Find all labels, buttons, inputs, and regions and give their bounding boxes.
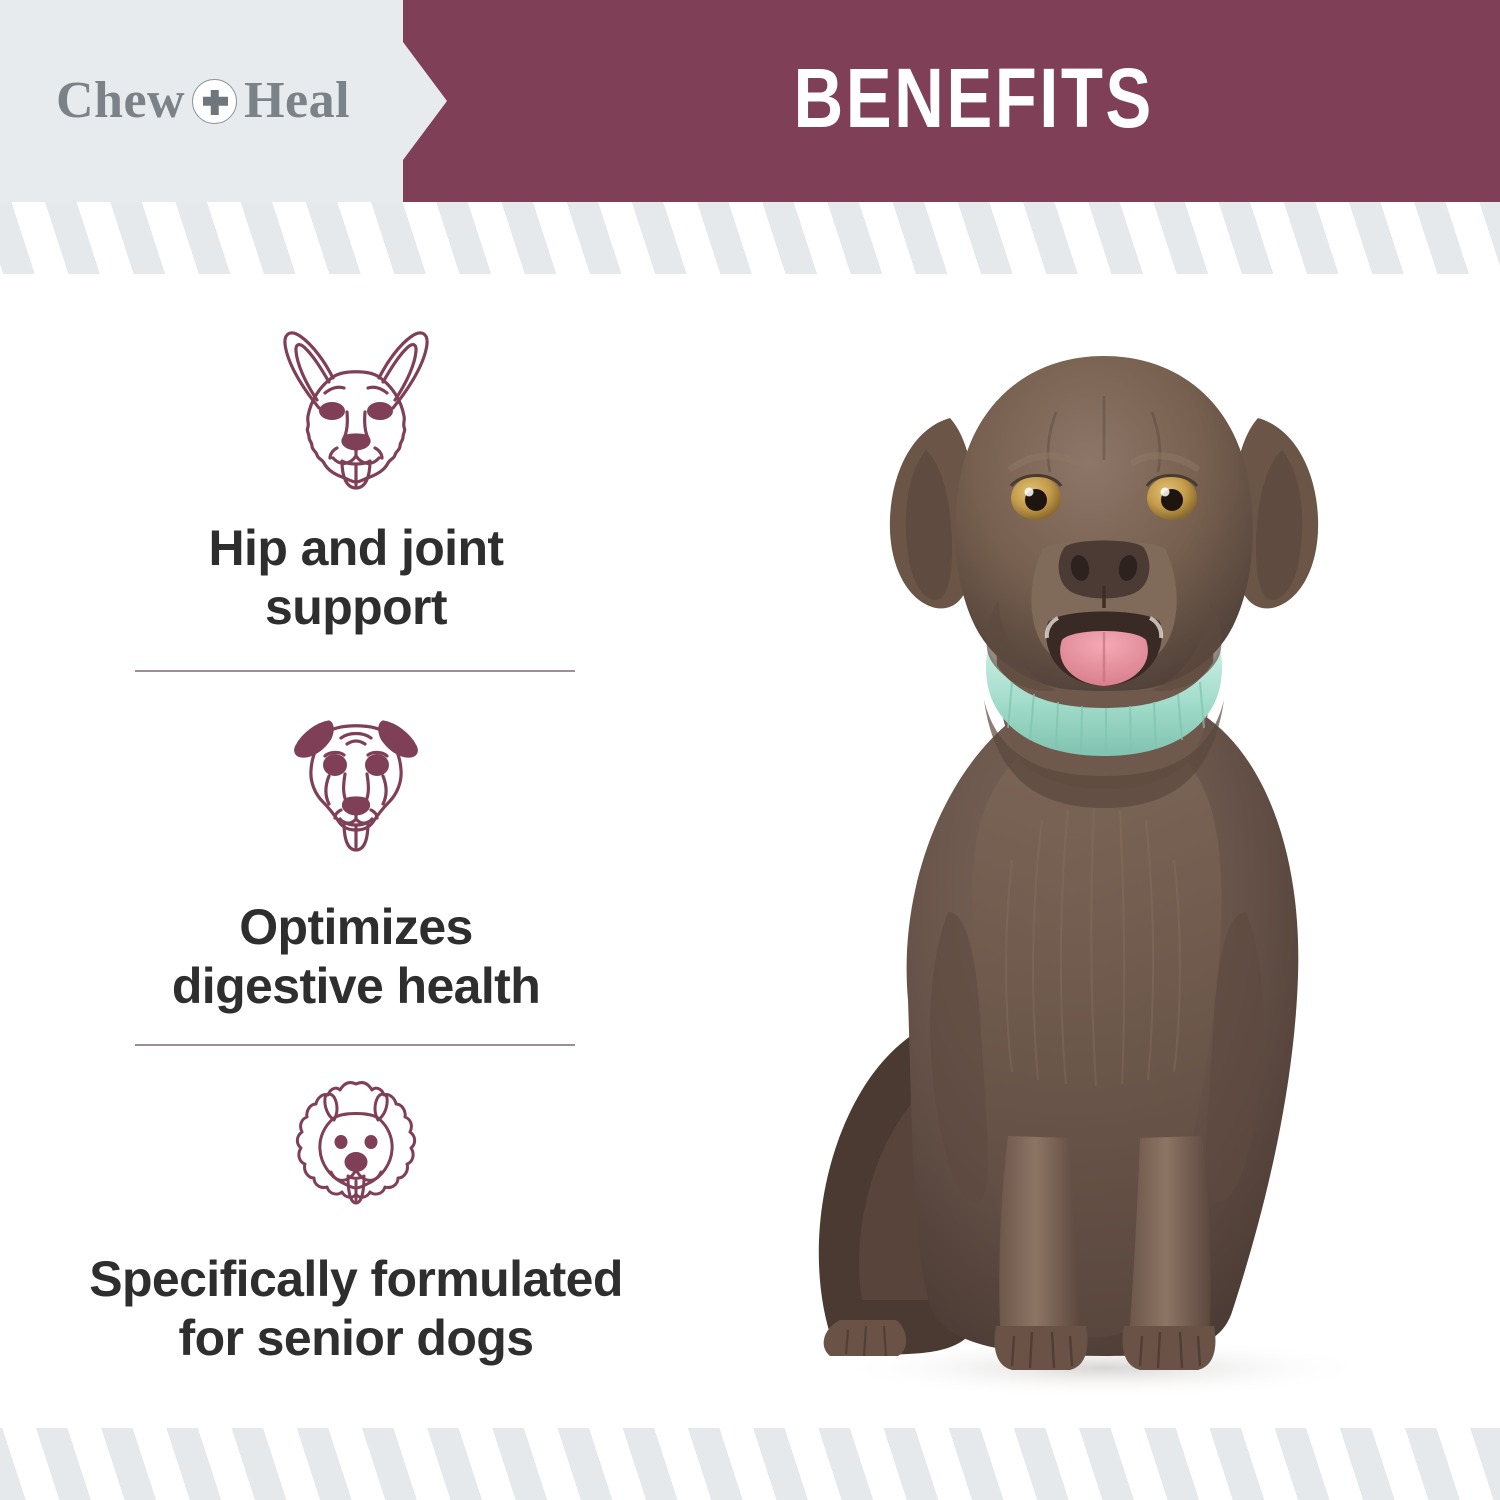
- benefit-divider: [135, 670, 575, 672]
- benefit-label: Hip and joint support: [96, 519, 616, 637]
- corgi-dog-face-icon: [251, 320, 461, 495]
- benefit-label: Optimizes digestive health: [46, 898, 666, 1016]
- benefit-item-digestive: Optimizes digestive health: [0, 698, 712, 1016]
- benefits-list: Hip and joint support: [0, 296, 712, 1406]
- brand-word-heal: Heal: [244, 75, 350, 127]
- brand-logo: Chew Heal: [56, 68, 356, 134]
- header-title-text: BENEFITS: [793, 50, 1153, 147]
- benefit-divider: [135, 1044, 575, 1046]
- benefit-item-senior: Specifically formulated for senior dogs: [0, 1072, 712, 1368]
- benefit-label: Specifically formulated for senior dogs: [6, 1250, 706, 1368]
- circled-plus-icon: [192, 79, 237, 124]
- stripe-pattern: [0, 1428, 1500, 1500]
- terrier-dog-face-icon: [267, 698, 445, 858]
- infographic-page: Chew Heal BENEFITS: [0, 0, 1500, 1500]
- diagonal-stripe-band-bottom: [0, 1428, 1500, 1500]
- dog-front-paw-right: [1123, 1326, 1216, 1370]
- header-title: BENEFITS: [447, 0, 1500, 202]
- fluffy-dog-face-icon: [272, 1072, 440, 1222]
- diagonal-stripe-band-top: [0, 202, 1500, 274]
- dog-eye-highlight-right: [1161, 488, 1170, 497]
- brand-word-chew: Chew: [56, 75, 185, 127]
- stripe-pattern: [0, 202, 1500, 274]
- benefit-item-hip-joint: Hip and joint support: [0, 320, 712, 637]
- dog-eye-highlight-left: [1025, 488, 1034, 497]
- dog-front-paw-left: [995, 1326, 1088, 1370]
- header-banner: Chew Heal BENEFITS: [0, 0, 1500, 202]
- sitting-labrador-photo: [712, 300, 1500, 1420]
